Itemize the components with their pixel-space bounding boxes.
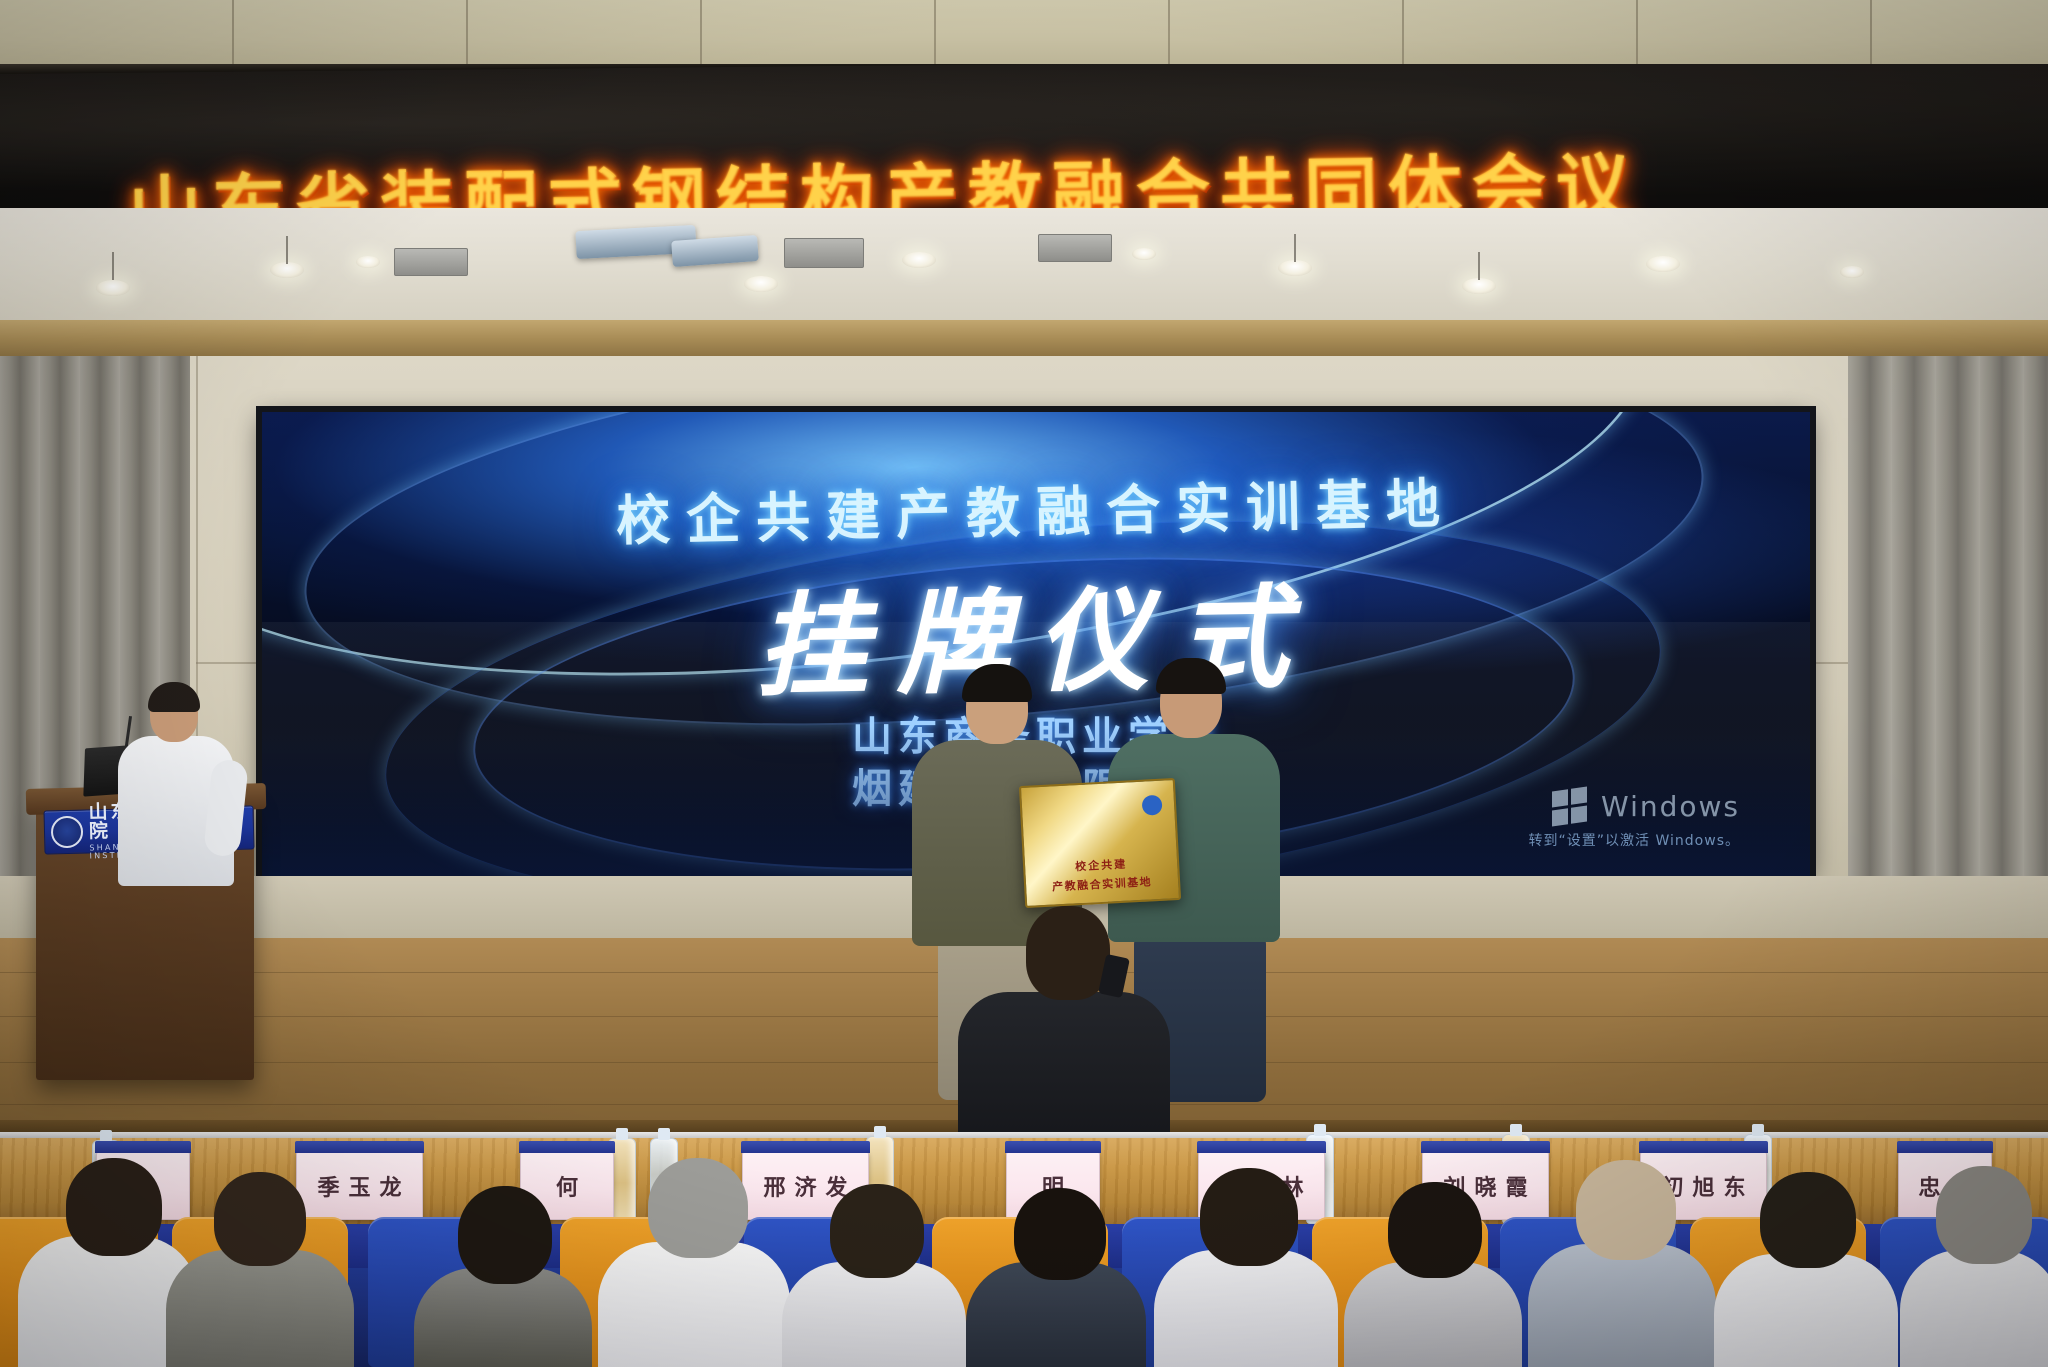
wood-trim <box>0 320 2048 356</box>
ceiling <box>0 0 2048 72</box>
nameplate: 季玉龙 <box>296 1152 423 1220</box>
audience-head <box>648 1158 748 1258</box>
audience-head <box>1576 1160 1676 1260</box>
windows-logo-icon <box>1552 787 1587 827</box>
plaque-line-1: 校企共建 <box>1075 856 1128 875</box>
audience-person <box>166 1250 354 1367</box>
audience-head <box>1014 1188 1106 1280</box>
audience-person <box>1154 1250 1338 1367</box>
audience-head <box>830 1184 924 1278</box>
audience-head <box>66 1158 162 1256</box>
windows-watermark-text: Windows <box>1601 790 1740 823</box>
nameplate-text: 何 <box>547 1170 587 1202</box>
gold-plaque: 校企共建 产教融合实训基地 <box>1019 778 1181 908</box>
windows-activate-text: 转到“设置”以激活 Windows。 <box>1529 830 1740 850</box>
audience-head <box>1936 1166 2032 1264</box>
audience-head <box>1200 1168 1298 1266</box>
windows-watermark: Windows <box>1552 789 1740 824</box>
conference-photo: 山东省装配式钢结构产教融合共同体会议 <box>0 0 2048 1367</box>
plaque-logo-icon <box>1142 795 1163 816</box>
audience-person <box>1528 1244 1716 1367</box>
banner-rail <box>0 64 2048 74</box>
school-emblem-icon <box>51 816 84 849</box>
nameplate-text: 季玉龙 <box>308 1170 410 1202</box>
audience-head <box>214 1172 306 1266</box>
audience-person <box>1714 1254 1898 1367</box>
plaque-line-2: 产教融合实训基地 <box>1052 873 1153 894</box>
audience-person <box>598 1242 790 1367</box>
banner-title: 山东省装配式钢结构产教融合共同体会议 <box>127 128 1640 212</box>
nameplate-text: 邢济发 <box>754 1170 856 1202</box>
headline-banner: 山东省装配式钢结构产教融合共同体会议 <box>0 64 2048 212</box>
audience-person <box>1900 1250 2048 1367</box>
audience-head <box>1388 1182 1482 1278</box>
upper-wall <box>0 208 2048 320</box>
audience-head <box>1760 1172 1856 1268</box>
audience-head <box>458 1186 552 1284</box>
led-main-title: 挂牌仪式 <box>262 539 1810 728</box>
